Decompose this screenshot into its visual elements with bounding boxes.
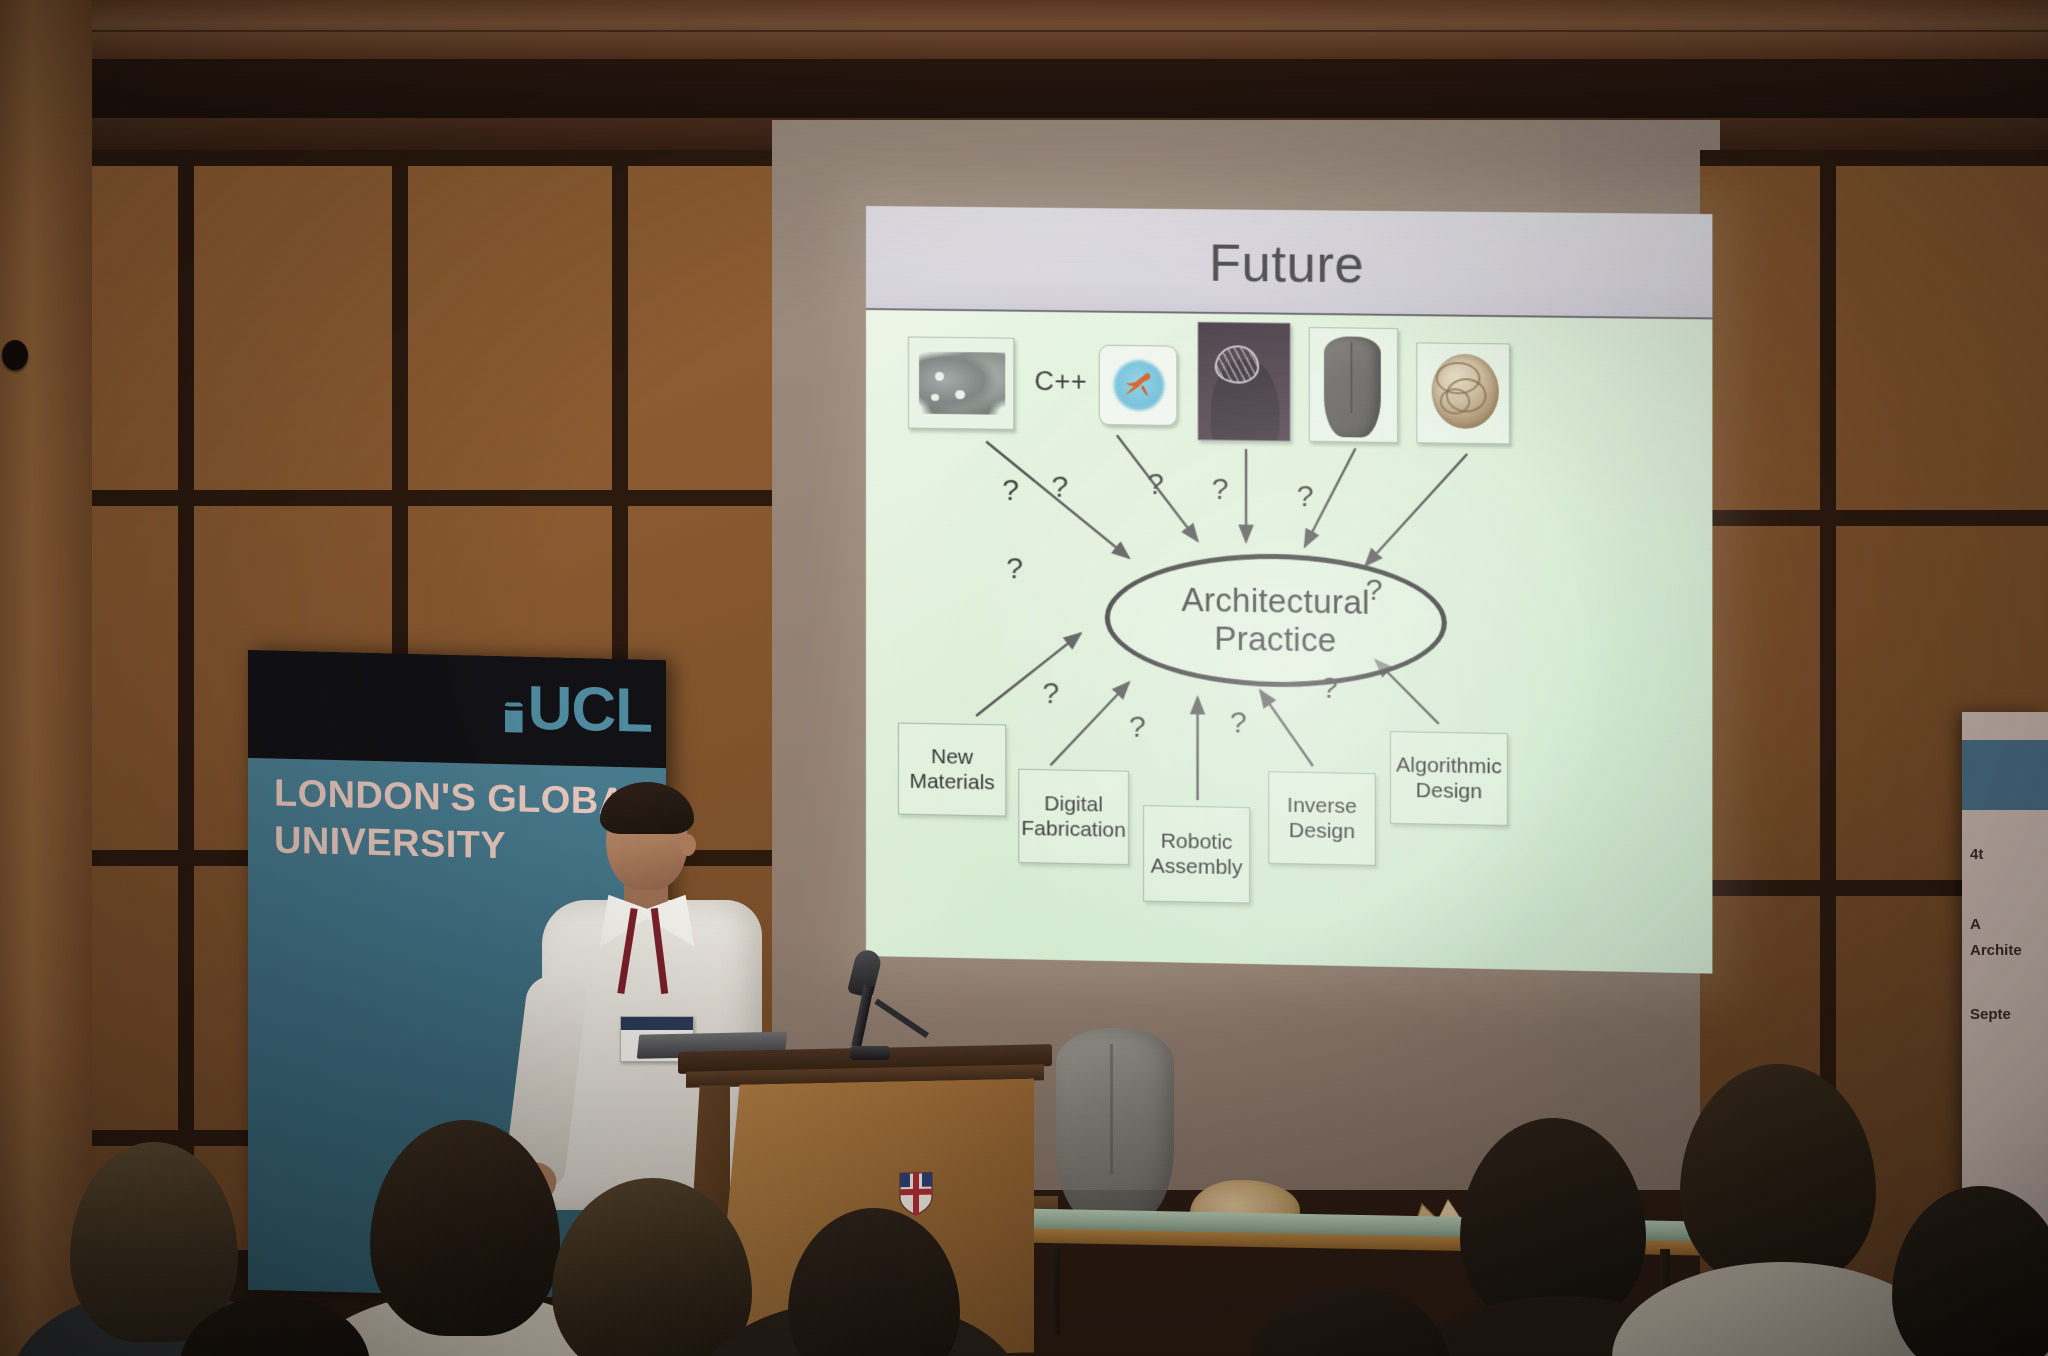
box-label-line1: New — [931, 744, 973, 770]
kangaroo-plugin-icon — [1099, 345, 1178, 426]
mesh-geometry-thumbnail — [908, 336, 1014, 429]
question-mark: ? — [1147, 468, 1164, 502]
banner-fragment: 4t — [1970, 846, 1983, 863]
question-mark: ? — [1129, 710, 1146, 744]
question-mark: ? — [1212, 473, 1229, 507]
box-inverse-design: Inverse Design — [1268, 771, 1375, 866]
speaker-ear — [680, 834, 696, 856]
question-mark: ? — [1321, 671, 1338, 706]
beam-seam — [0, 30, 2048, 32]
question-mark: ? — [1042, 677, 1059, 711]
banner-fragment: A — [1970, 916, 1981, 933]
ucl-crest-icon — [505, 697, 523, 733]
box-new-materials: New Materials — [898, 723, 1006, 817]
projected-slide: Future — [866, 206, 1712, 974]
box-label-line1: Digital — [1044, 791, 1103, 817]
wall-pilaster — [0, 0, 92, 1356]
banner-fragment: Septe — [1970, 1006, 2011, 1023]
box-label-line1: Robotic — [1161, 828, 1233, 855]
wall-fixture-icon — [2, 340, 28, 370]
banner-stripe — [1962, 740, 2048, 810]
box-algorithmic-design: Algorithmic Design — [1390, 731, 1508, 826]
box-label-line2: Assembly — [1151, 853, 1243, 880]
box-label-line1: Algorithmic — [1396, 752, 1502, 779]
question-mark: ? — [1297, 480, 1314, 514]
center-node-line2: Practice — [1214, 619, 1336, 659]
mic-base — [850, 1046, 890, 1060]
badge-header-bar — [621, 1017, 693, 1030]
box-label-line2: Fabrication — [1021, 816, 1126, 843]
torso-sculpture-thumbnail — [1309, 327, 1398, 443]
box-label-line2: Design — [1289, 818, 1355, 845]
box-digital-fabrication: Digital Fabrication — [1018, 769, 1129, 865]
box-label-line2: Design — [1416, 778, 1483, 805]
brain-scan-thumbnail — [1198, 322, 1291, 442]
mesh-torso-sculpture — [1056, 1028, 1174, 1220]
box-label-line2: Materials — [909, 769, 994, 796]
lecture-hall-photo: Future — [0, 0, 2048, 1356]
banner-fragment: Archite — [1970, 942, 2022, 959]
question-mark: ? — [1366, 573, 1383, 608]
woven-form-thumbnail — [1416, 342, 1510, 444]
speaker-hair — [600, 782, 694, 834]
microphone — [836, 950, 916, 1070]
coat-of-arms-icon — [898, 1171, 934, 1218]
cpp-label: C++ — [1034, 366, 1087, 398]
question-mark: ? — [1230, 706, 1247, 740]
center-node-line1: Architectural — [1181, 581, 1369, 622]
question-mark: ? — [1051, 471, 1068, 505]
question-mark: ? — [1002, 474, 1019, 508]
box-label-line1: Inverse — [1287, 793, 1357, 820]
ucl-wordmark: UCL — [528, 685, 652, 736]
box-robotic-assembly: Robotic Assembly — [1143, 805, 1250, 904]
ucl-logo: UCL — [505, 684, 652, 736]
question-mark: ? — [1006, 552, 1023, 586]
